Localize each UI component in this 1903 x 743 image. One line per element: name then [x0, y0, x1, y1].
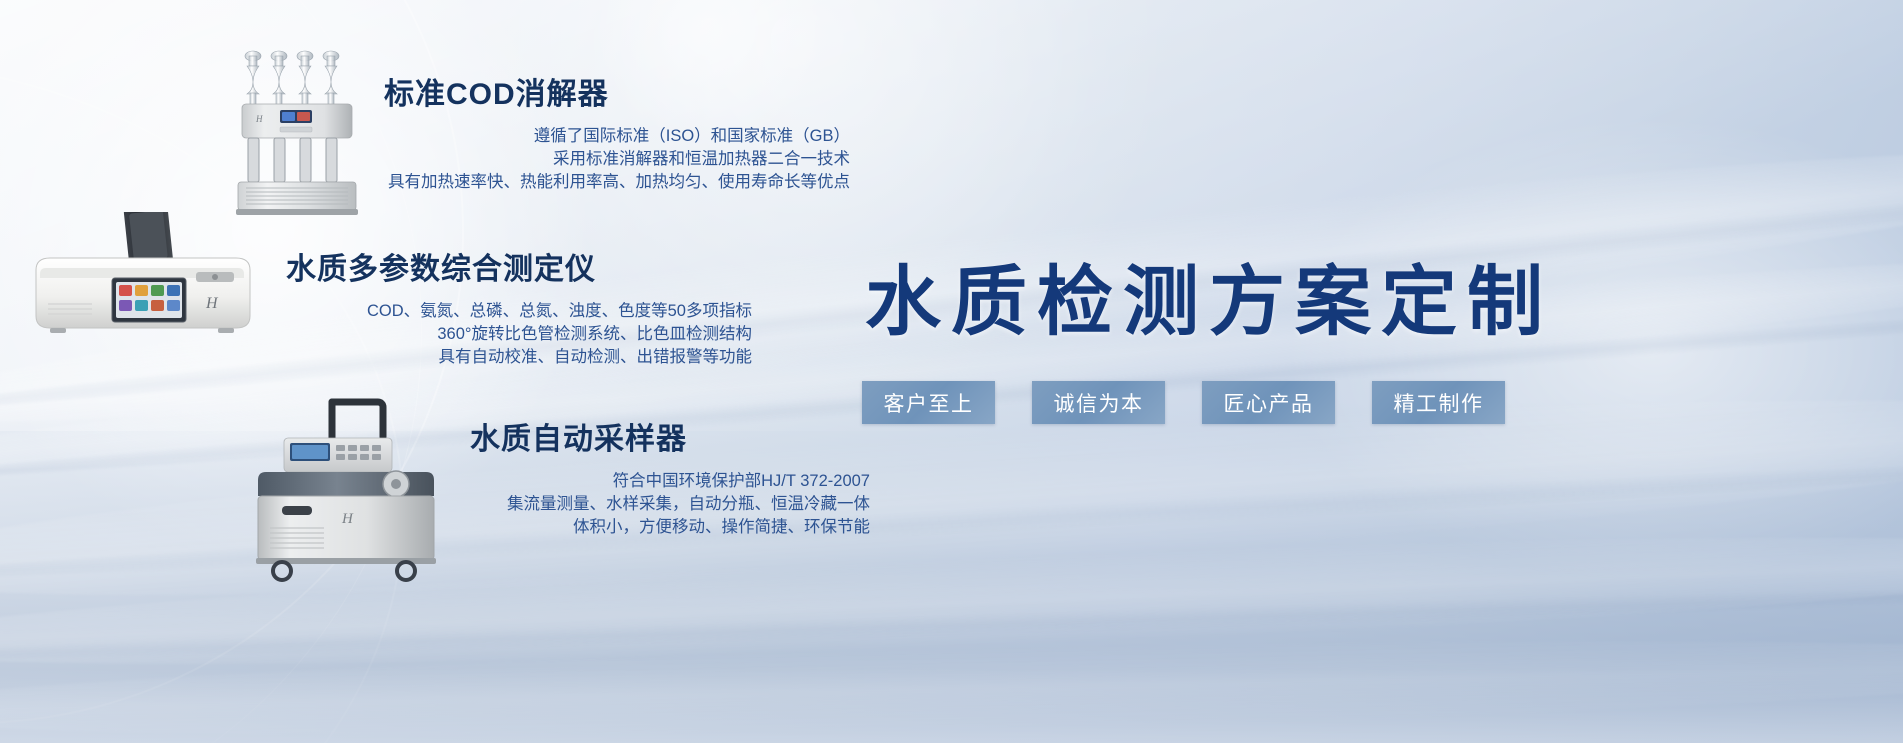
- promo-banner: H: [0, 0, 1903, 743]
- product-description-line: 遵循了国际标准（ISO）和国家标准（GB）: [384, 125, 850, 148]
- auto-sampler-icon: H: [246, 398, 446, 583]
- background-ribbon-shadow-4: [0, 580, 1903, 668]
- product-description-line: 具有自动校准、自动检测、出错报警等功能: [286, 346, 752, 369]
- svg-text:H: H: [341, 511, 354, 527]
- product-title: 水质多参数综合测定仪: [286, 253, 752, 286]
- background-ribbon-5: [0, 624, 1903, 743]
- slogan-badge[interactable]: 诚信为本: [1032, 381, 1165, 424]
- product-block-cod-digester: 标准COD消解器 遵循了国际标准（ISO）和国家标准（GB） 采用标准消解器和恒…: [384, 78, 850, 194]
- product-description-line: 符合中国环境保护部HJ/T 372-2007: [470, 470, 870, 493]
- product-description-line: 采用标准消解器和恒温加热器二合一技术: [384, 148, 850, 171]
- product-title: 水质自动采样器: [470, 423, 870, 456]
- svg-text:H: H: [255, 114, 263, 124]
- slogan-badge[interactable]: 匠心产品: [1202, 381, 1335, 424]
- page-title: 水质检测方案定制: [855, 240, 1515, 350]
- product-description: COD、氨氮、总磷、总氮、浊度、色度等50多项指标 360°旋转比色管检测系统、…: [286, 300, 752, 369]
- product-description-line: COD、氨氮、总磷、总氮、浊度、色度等50多项指标: [286, 300, 752, 323]
- slogan-badge-list: 客户至上 诚信为本 匠心产品 精工制作: [862, 381, 1505, 424]
- background-ribbon-shadow-3: [0, 450, 1903, 590]
- background-arc-3: [0, 60, 404, 743]
- slogan-badge[interactable]: 精工制作: [1372, 381, 1505, 424]
- background-arc-2: [0, 0, 422, 743]
- background-wash-bottom-fade: [0, 669, 1903, 743]
- cod-digester-icon: H: [236, 48, 358, 218]
- product-block-water-analyzer: 水质多参数综合测定仪 COD、氨氮、总磷、总氮、浊度、色度等50多项指标 360…: [286, 253, 752, 369]
- product-description-line: 具有加热速率快、热能利用率高、加热均匀、使用寿命长等优点: [384, 171, 850, 194]
- background-ribbon-4: [0, 512, 1903, 690]
- product-description-line: 集流量测量、水样采集，自动分瓶、恒温冷藏一体: [470, 493, 870, 516]
- svg-text:H: H: [205, 295, 219, 312]
- background-wash-bottom: [0, 401, 1903, 743]
- water-analyzer-icon: H: [28, 212, 258, 347]
- background-glow-right: [1163, 40, 1903, 660]
- product-description-line: 360°旋转比色管检测系统、比色皿检测结构: [286, 323, 752, 346]
- product-block-auto-sampler: 水质自动采样器 符合中国环境保护部HJ/T 372-2007 集流量测量、水样采…: [470, 423, 870, 539]
- product-description-line: 体积小，方便移动、操作简捷、环保节能: [470, 516, 870, 539]
- slogan-badge[interactable]: 客户至上: [862, 381, 995, 424]
- product-description: 符合中国环境保护部HJ/T 372-2007 集流量测量、水样采集，自动分瓶、恒…: [470, 470, 870, 539]
- product-description: 遵循了国际标准（ISO）和国家标准（GB） 采用标准消解器和恒温加热器二合一技术…: [384, 125, 850, 194]
- product-title: 标准COD消解器: [384, 78, 850, 111]
